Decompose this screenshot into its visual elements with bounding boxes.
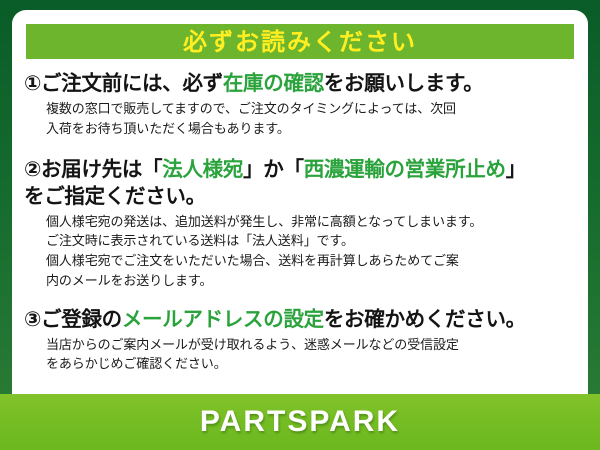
subtext-line: 個人様宅宛でご注文をいただいた場合、送料を再計算しあらためてご案 [46, 252, 576, 272]
notice-title: 必ずお読みください [183, 30, 417, 54]
headline-text: をお確かめください。 [324, 307, 526, 331]
notice-item-2-subtext: 個人様宅宛の発送は、追加送料が発生し、非常に高額となってしまいます。ご注文時に表… [46, 213, 576, 292]
notice-body: ①ご注文前には、必ず在庫の確認をお願いします。 複数の窓口で販売してますので、ご… [24, 70, 576, 377]
notice-item-1-subtext: 複数の窓口で販売してますので、ご注文のタイミングによっては、次回入荷をお待ち頂い… [46, 100, 576, 140]
brand-footer: PARTSPARK [0, 394, 600, 450]
subtext-line: ご注文時に表示されている送料は「法人送料」です。 [46, 232, 576, 252]
headline-text: 」 [506, 157, 526, 181]
partspark-logo: PARTSPARK [200, 405, 400, 439]
headline-text: ①ご注文前には、必ず [24, 71, 223, 95]
headline-text: 」か「 [243, 157, 304, 181]
headline-text: をお願いします。 [324, 71, 484, 95]
notice-item-3-subtext: 当店からのご案内メールが受け取れるよう、迷惑メールなどの受信設定をあらかじめご確… [46, 336, 576, 376]
headline-highlight: メールアドレスの設定 [122, 307, 324, 331]
notice-header-banner: 必ずお読みください [26, 24, 574, 59]
notice-item-2: ②お届け先は「法人様宛」か「西濃運輸の営業所止め」をご指定ください。 個人様宅宛… [24, 156, 576, 292]
subtext-line: 複数の窓口で販売してますので、ご注文のタイミングによっては、次回 [46, 100, 576, 120]
headline-highlight: 西濃運輸の営業所止め [304, 157, 506, 181]
notice-item-3-headline: ③ご登録のメールアドレスの設定をお確かめください。 [24, 306, 576, 333]
shipping-notice-card: 必ずお読みください ①ご注文前には、必ず在庫の確認をお願いします。 複数の窓口で… [0, 0, 600, 450]
headline-text: をご指定ください。 [24, 184, 206, 208]
subtext-line: をあらかじめご確認ください。 [46, 355, 576, 375]
subtext-line: 当店からのご案内メールが受け取れるよう、迷惑メールなどの受信設定 [46, 336, 576, 356]
headline-highlight: 法人様宛 [162, 157, 243, 181]
notice-item-1-headline: ①ご注文前には、必ず在庫の確認をお願いします。 [24, 70, 576, 97]
notice-item-2-headline: ②お届け先は「法人様宛」か「西濃運輸の営業所止め」をご指定ください。 [24, 156, 576, 210]
headline-text: ②お届け先は「 [24, 157, 162, 181]
subtext-line: 入荷をお待ち頂いただく場合もあります。 [46, 120, 576, 140]
notice-item-3: ③ご登録のメールアドレスの設定をお確かめください。 当店からのご案内メールが受け… [24, 306, 576, 376]
headline-text: ③ご登録の [24, 307, 122, 331]
headline-highlight: 在庫の確認 [223, 71, 324, 95]
notice-item-1: ①ご注文前には、必ず在庫の確認をお願いします。 複数の窓口で販売してますので、ご… [24, 70, 576, 140]
subtext-line: 個人様宅宛の発送は、追加送料が発生し、非常に高額となってしまいます。 [46, 213, 576, 233]
subtext-line: 内のメールをお送りします。 [46, 272, 576, 292]
